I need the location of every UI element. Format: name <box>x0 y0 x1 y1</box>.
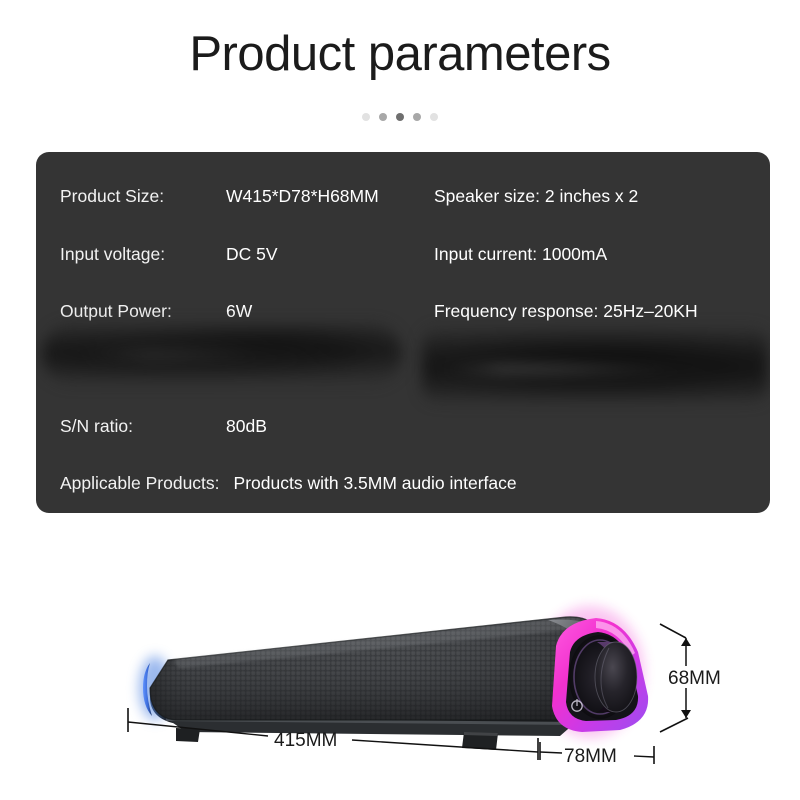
spec-right-text: Input current: 1000mA <box>434 244 607 265</box>
spec-row-left: Applicable Products: Products with 3.5MM… <box>60 473 517 494</box>
pagination-dot-1[interactable] <box>362 113 370 121</box>
spec-row: S/N ratio: 80dB <box>36 400 770 452</box>
redacted-spec-row-right <box>422 328 768 402</box>
spec-row-left: Output Power: 6W <box>60 301 252 322</box>
spec-label: S/N ratio: <box>60 416 226 437</box>
spec-value: Products with 3.5MM audio interface <box>234 473 517 494</box>
spec-row: Applicable Products: Products with 3.5MM… <box>36 457 770 509</box>
spec-row-right: Speaker size: 2 inches x 2 <box>434 186 638 207</box>
spec-row: Product Size: W415*D78*H68MM Speaker siz… <box>36 170 770 222</box>
spec-value: 80dB <box>226 416 267 437</box>
spec-label: Applicable Products: <box>60 473 220 494</box>
spec-row: Input voltage: DC 5V Input current: 1000… <box>36 228 770 280</box>
spec-row-right: Input current: 1000mA <box>434 244 607 265</box>
dimension-height: 68MM <box>660 624 721 732</box>
spec-row-left: Product Size: W415*D78*H68MM <box>60 186 379 207</box>
spec-row-left: Input voltage: DC 5V <box>60 244 278 265</box>
spec-row-right: Frequency response: 25Hz–20KH <box>434 301 698 322</box>
spec-label: Product Size: <box>60 186 226 207</box>
product-illustration: 415MM 78MM 68MM <box>0 560 800 800</box>
product-parameters-page: Product parameters Product Size: W415*D7… <box>0 0 800 800</box>
spec-value: W415*D78*H68MM <box>226 186 379 207</box>
spec-value: 6W <box>226 301 252 322</box>
dimension-depth-label: 78MM <box>564 746 617 767</box>
page-title: Product parameters <box>0 26 800 82</box>
dimension-depth: 78MM <box>540 742 654 767</box>
soundbar-diagram: 415MM 78MM 68MM <box>0 560 800 800</box>
spec-label: Output Power: <box>60 301 226 322</box>
pagination-dots[interactable] <box>0 113 800 121</box>
pagination-dot-2[interactable] <box>379 113 387 121</box>
spec-panel: Product Size: W415*D78*H68MM Speaker siz… <box>36 152 770 513</box>
spec-label: Input voltage: <box>60 244 226 265</box>
spec-grid: Product Size: W415*D78*H68MM Speaker siz… <box>36 152 770 513</box>
soundbar-foot-left <box>176 728 200 742</box>
dimension-height-label: 68MM <box>668 668 721 689</box>
pagination-dot-3[interactable] <box>396 113 404 121</box>
spec-row: Output Power: 6W Frequency response: 25H… <box>36 285 770 337</box>
pagination-dot-5[interactable] <box>430 113 438 121</box>
spec-right-text: Frequency response: 25Hz–20KH <box>434 301 698 322</box>
spec-value: DC 5V <box>226 244 278 265</box>
pagination-dot-4[interactable] <box>413 113 421 121</box>
spec-row-left: S/N ratio: 80dB <box>60 416 267 437</box>
spec-right-text: Speaker size: 2 inches x 2 <box>434 186 638 207</box>
dimension-width-label: 415MM <box>274 730 337 751</box>
